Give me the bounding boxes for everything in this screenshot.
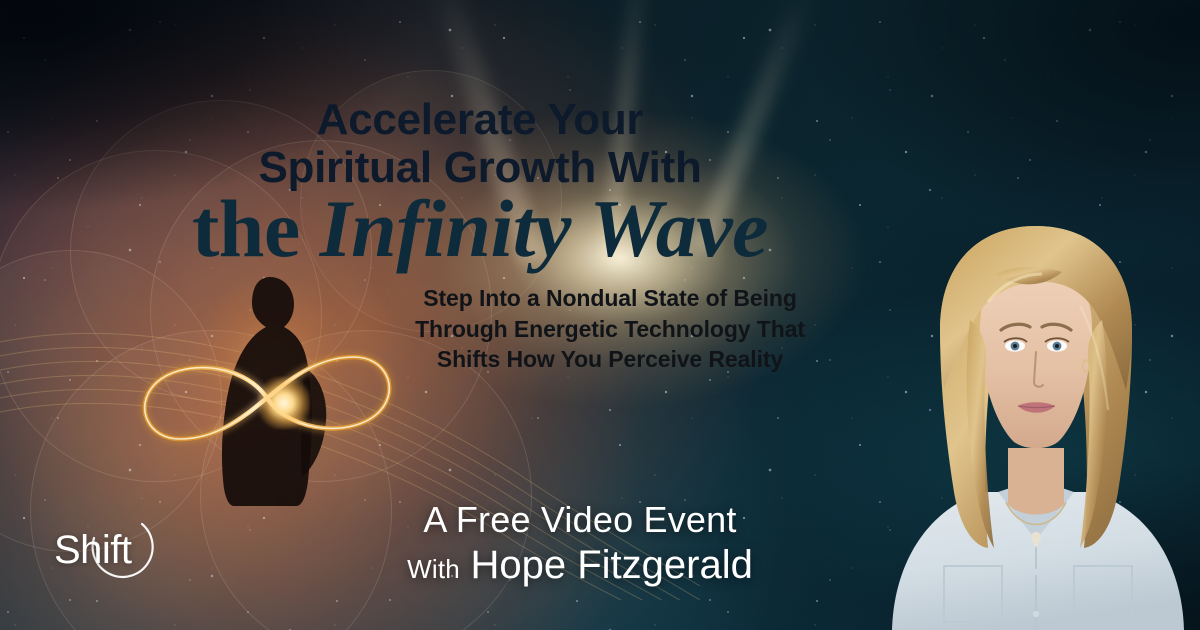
presenter-portrait: [870, 210, 1200, 630]
subheading-line-1: Step Into a Nondual State of Being: [260, 283, 960, 314]
page-subheading: Step Into a Nondual State of Being Throu…: [260, 283, 960, 375]
title-accent: Infinity Wave: [320, 183, 768, 274]
title-lead: the: [192, 183, 300, 274]
shift-logo[interactable]: Shift: [50, 512, 170, 594]
promo-banner: Accelerate Your Spiritual Growth With th…: [0, 0, 1200, 630]
page-title: the Infinity Wave: [0, 188, 960, 270]
event-type-label: A Free Video Event: [300, 500, 860, 540]
subheading-line-2: Through Energetic Technology That: [260, 314, 960, 345]
with-label: With: [407, 554, 460, 584]
page-headline: Accelerate Your Spiritual Growth With: [0, 96, 960, 191]
presenter-name: Hope Fitzgerald: [471, 543, 753, 587]
presenter-line: With Hope Fitzgerald: [300, 542, 860, 589]
headline-line-1: Accelerate Your: [317, 95, 644, 144]
shift-logo-text: Shift: [54, 528, 132, 573]
subheading-line-3: Shifts How You Perceive Reality: [260, 344, 960, 375]
event-info: A Free Video Event With Hope Fitzgerald: [300, 500, 860, 589]
